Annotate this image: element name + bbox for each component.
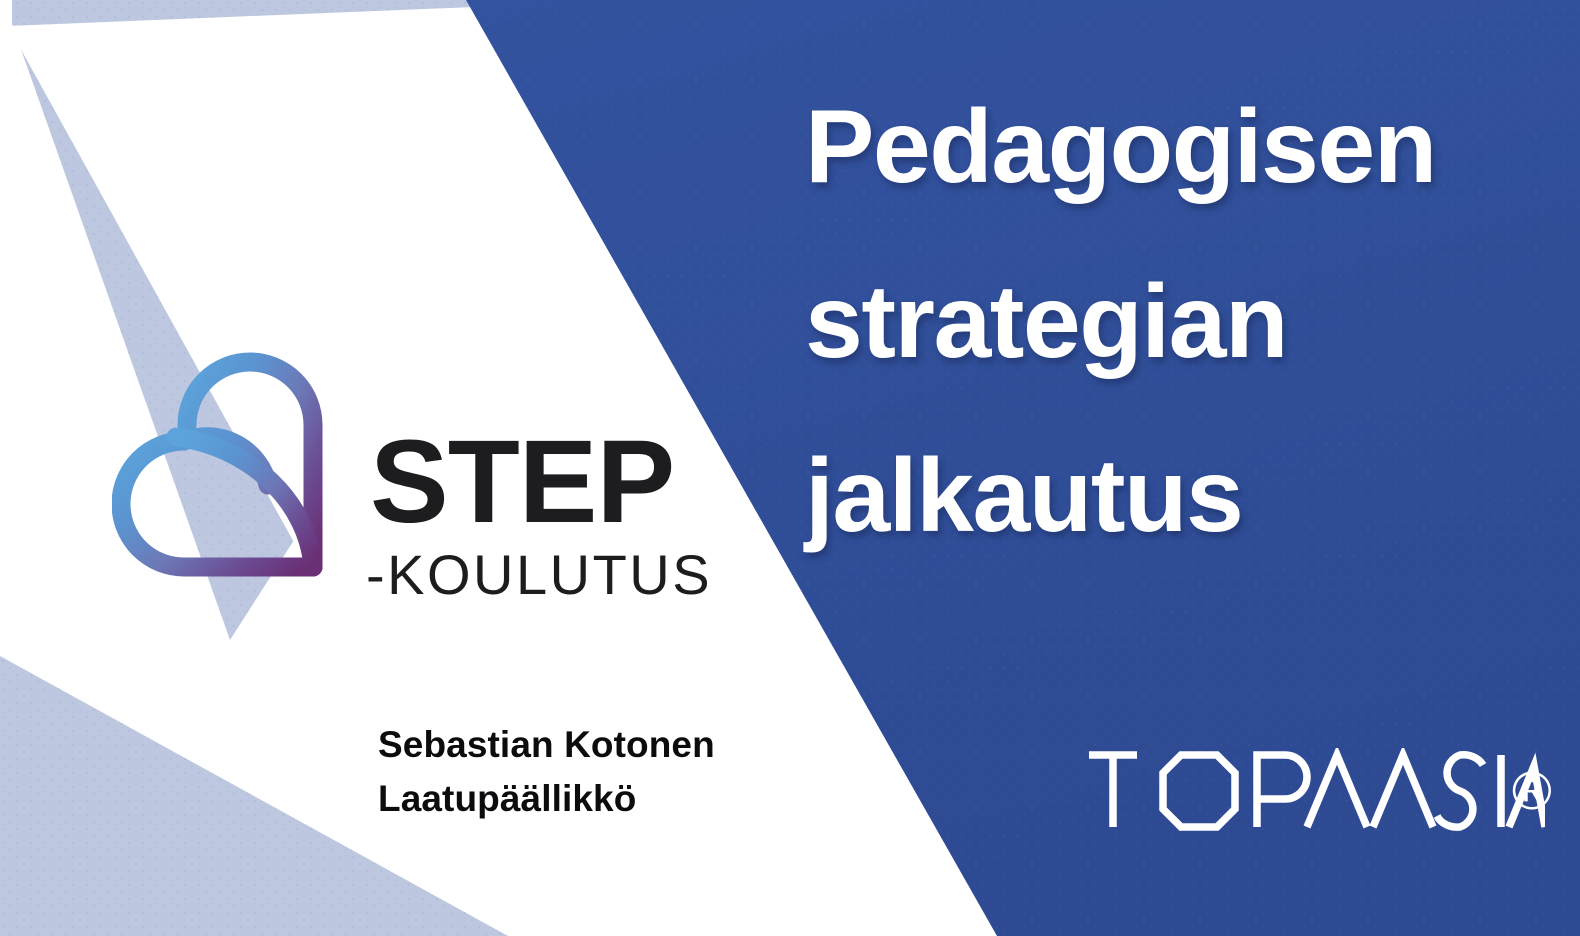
topaasia-letter-p (1257, 755, 1307, 827)
title-line-3: jalkautus (805, 409, 1565, 584)
topaasia-letter-a-1 (1307, 755, 1367, 827)
topaasia-letter-t (1089, 755, 1137, 827)
title-slide: STEP -KOULUTUS Sebastian Kotonen Laatupä… (0, 0, 1580, 936)
step-wordmark-block: STEP -KOULUTUS (370, 428, 710, 603)
presenter-name: Sebastian Kotonen (378, 718, 898, 772)
presenter-block: Sebastian Kotonen Laatupäällikkö (378, 718, 898, 825)
step-wordmark-subtitle: -KOULUTUS (366, 547, 710, 603)
step-heart-leaf-mark-icon (112, 335, 350, 583)
topaasia-letter-o-hexagon (1163, 755, 1235, 827)
page-title: Pedagogisen strategian jalkautus (805, 60, 1565, 584)
title-line-1: Pedagogisen (805, 60, 1565, 235)
topaasia-letter-s (1437, 755, 1483, 827)
topaasia-letter-a-2 (1373, 755, 1433, 827)
registered-trademark-symbol: ® (1512, 762, 1570, 820)
topaasia-logo (1085, 748, 1545, 834)
presenter-role: Laatupäällikkö (378, 772, 898, 826)
title-line-2: strategian (805, 235, 1565, 410)
step-koulutus-logo: STEP -KOULUTUS (112, 332, 712, 642)
step-wordmark: STEP (370, 428, 710, 537)
